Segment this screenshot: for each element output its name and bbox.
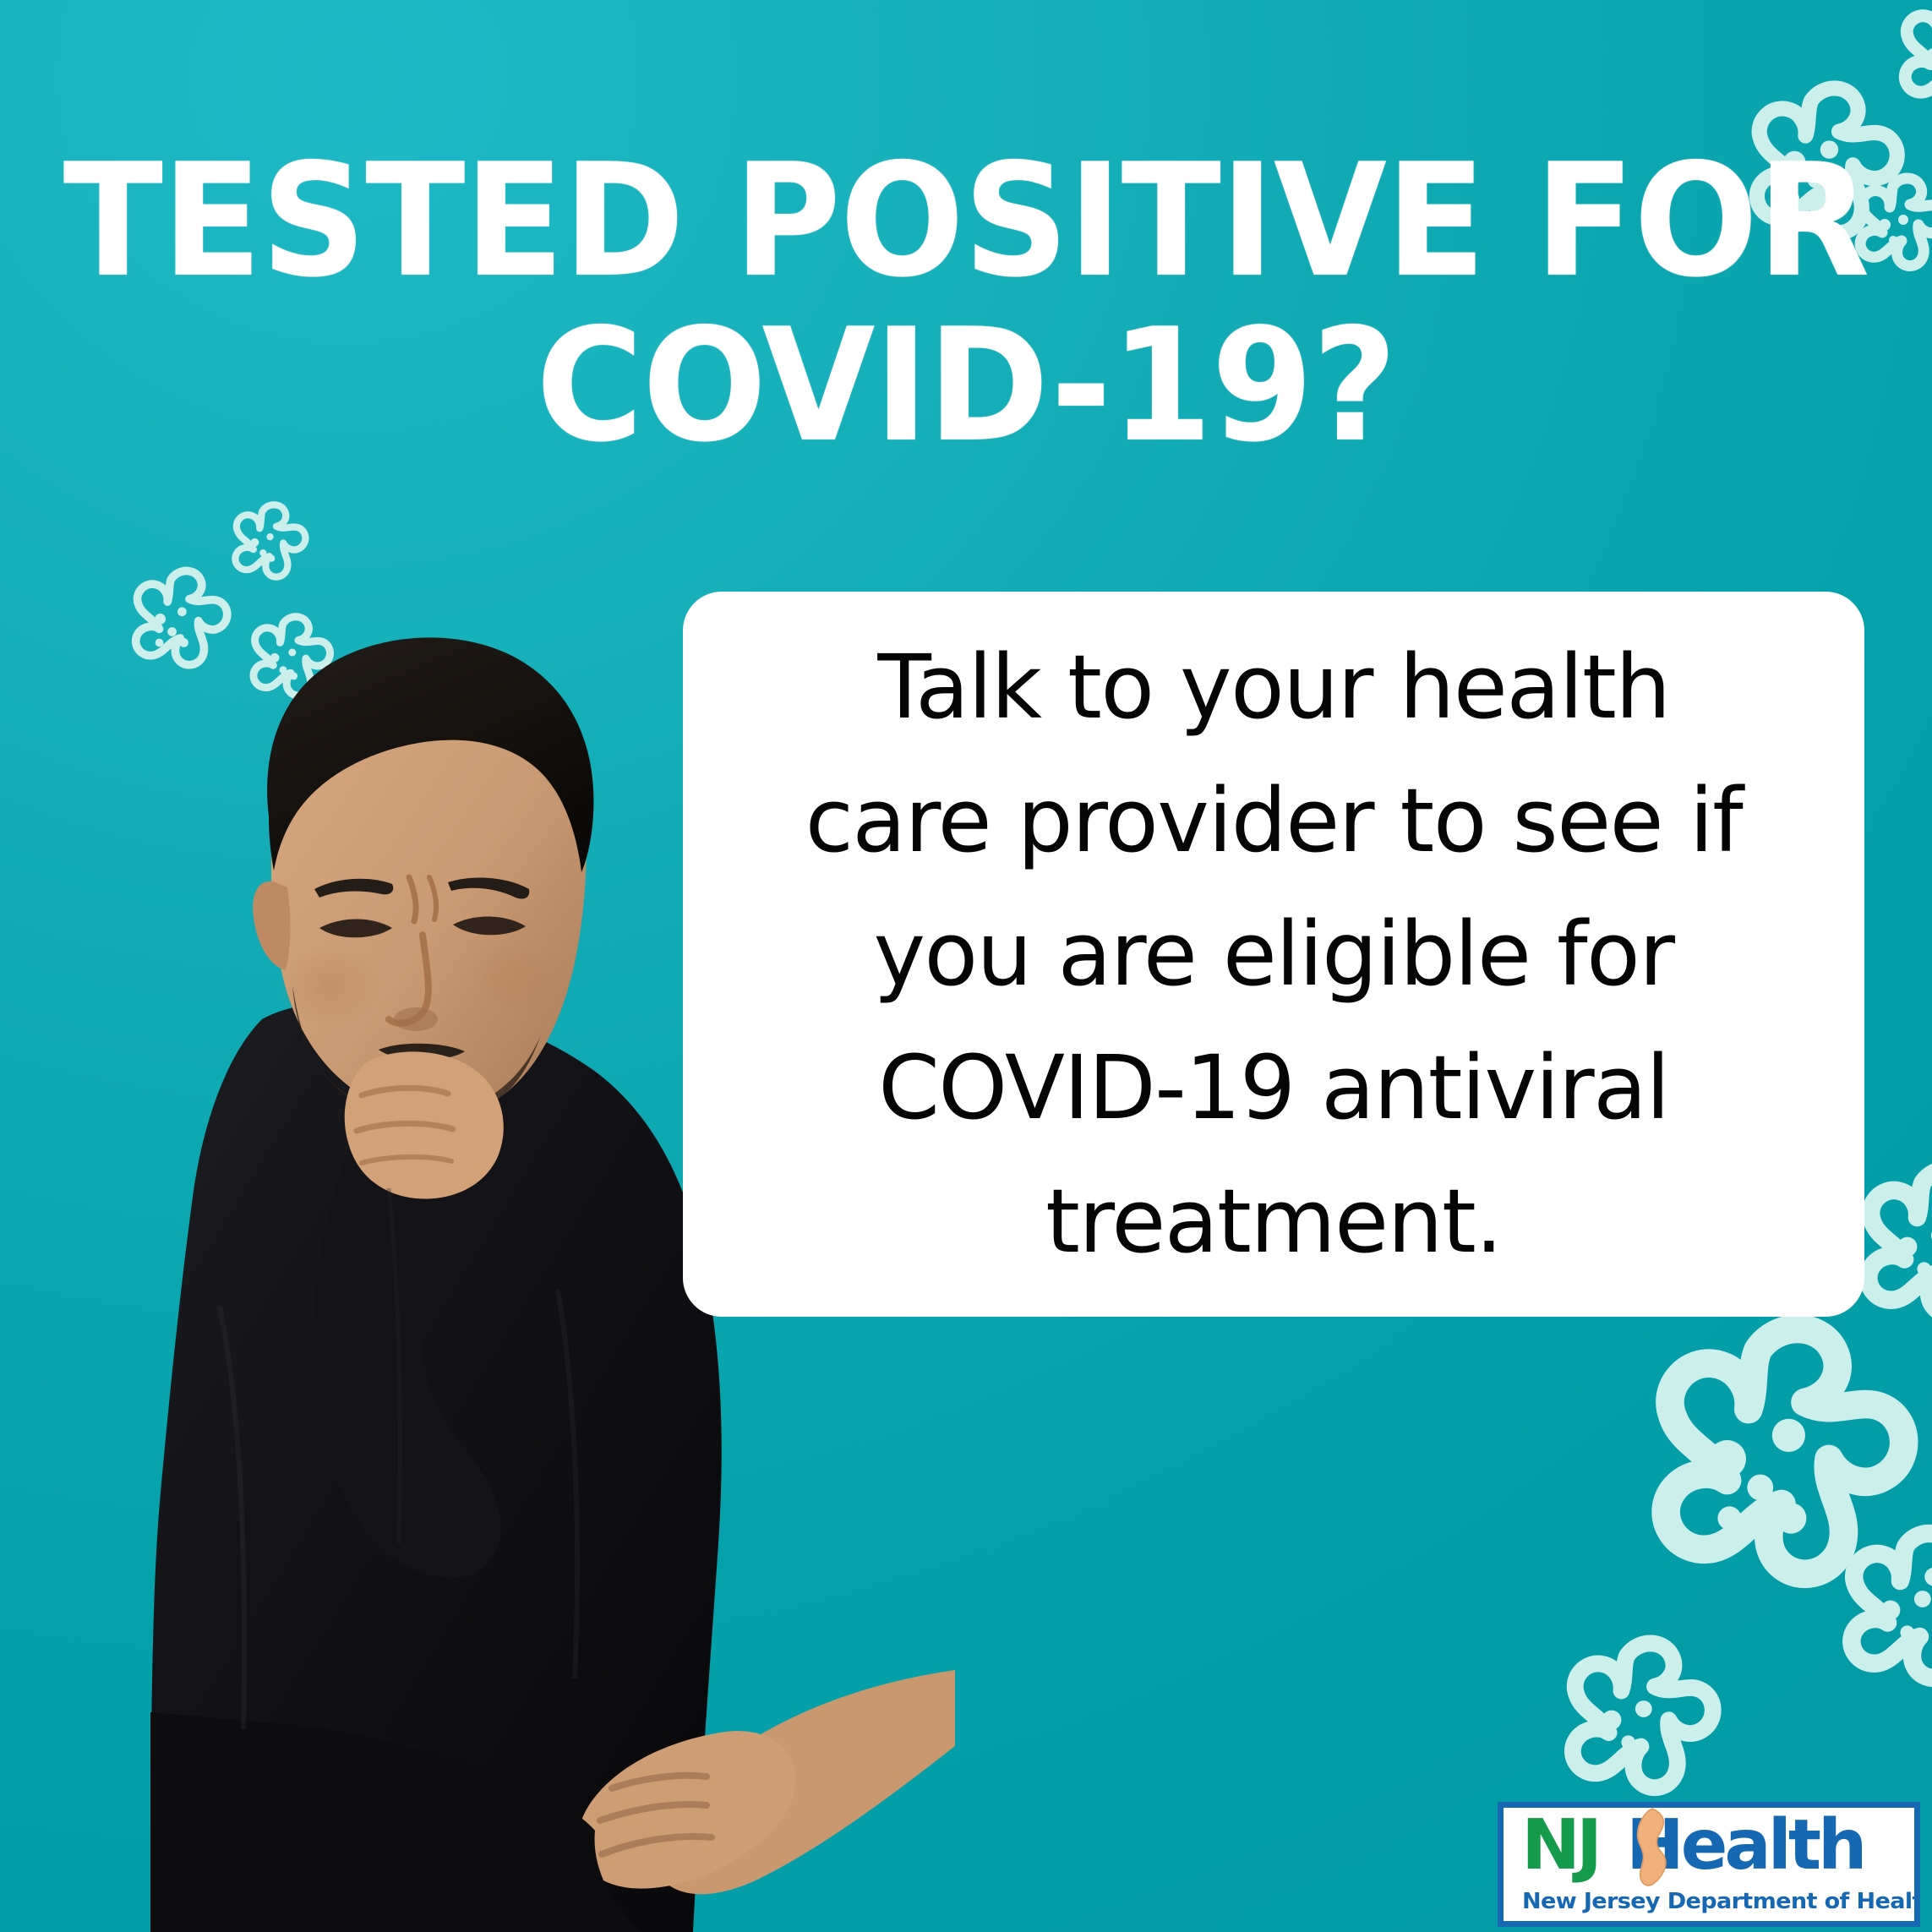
headline-line-1: TESTED POSITIVE FOR	[0, 150, 1932, 294]
message-card-text: Talk to your health care provider to see…	[775, 620, 1772, 1288]
logo-nj-text: NJ	[1521, 1811, 1598, 1880]
nostril	[394, 1007, 438, 1031]
headline: TESTED POSITIVE FOR COVID-19?	[0, 150, 1932, 425]
message-card: Talk to your health care provider to see…	[683, 592, 1864, 1317]
ear	[253, 881, 290, 970]
cheek-right	[470, 941, 565, 1016]
new-jersey-state-icon	[1630, 1806, 1674, 1889]
logo-wordmark: NJ Health	[1522, 1811, 1864, 1880]
cheek-left	[277, 945, 382, 1026]
nj-health-logo: NJ Health New Jersey Department of Healt…	[1498, 1802, 1920, 1927]
headline-line-2: COVID-19?	[0, 315, 1932, 459]
logo-tagline: New Jersey Department of Health	[1522, 1889, 1920, 1914]
poster-canvas: TESTED POSITIVE FOR COVID-19?	[0, 0, 1932, 1932]
